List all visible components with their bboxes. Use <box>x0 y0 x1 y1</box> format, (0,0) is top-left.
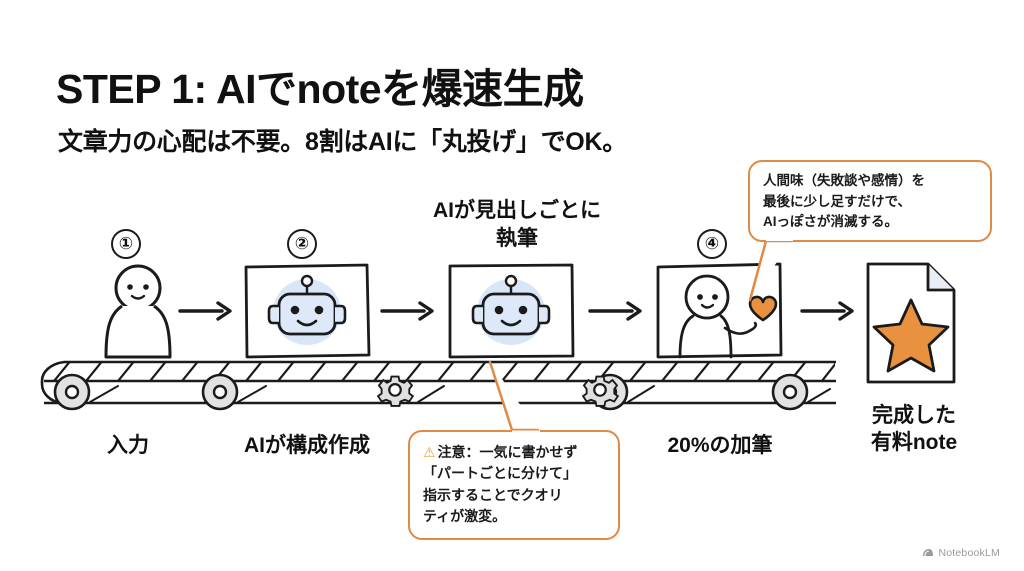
slide-canvas: STEP 1: AIでnoteを爆速生成 文章力の心配は不要。8割はAIに「丸投… <box>0 0 1024 571</box>
callout-warning-line1-text: 注意：一気に書かせず <box>438 444 578 460</box>
arrow-step3-to-step4 <box>588 300 646 322</box>
warning-icon: ⚠ <box>423 444 436 460</box>
stage3-label: AIが見出しごとに 執筆 <box>404 197 630 252</box>
step3-robot-panel <box>447 262 575 360</box>
step2-robot-panel <box>243 262 371 360</box>
belt-roller <box>55 375 89 409</box>
page-title: STEP 1: AIでnoteを爆速生成 <box>56 55 584 115</box>
arrow-right-icon <box>588 300 646 322</box>
arrow-right-icon <box>178 300 236 322</box>
callout-human-touch-line2: 最後に少し足すだけで、 <box>763 192 978 213</box>
caption-step1: 入力 <box>78 432 178 459</box>
callout-warning-line4: ティが激変。 <box>423 506 608 527</box>
notebooklm-logo-icon <box>922 547 934 559</box>
step1-person-figure <box>98 262 178 357</box>
callout-warning: ⚠注意：一気に書かせず 「パートごとに分けて」 指示することでクオリ ティが激変… <box>408 430 620 540</box>
stage3-label-line2: 執筆 <box>404 225 630 253</box>
belt-roller <box>203 375 237 409</box>
stage3-label-line1: AIが見出しごとに <box>404 197 630 225</box>
caption-step4: 20%の加筆 <box>645 432 795 459</box>
document-with-star-icon <box>862 258 966 388</box>
output-document <box>862 258 966 388</box>
watermark-label: NotebookLM <box>938 547 1000 559</box>
caption-step2: AIが構成作成 <box>222 432 392 459</box>
callout-warning-line2: 「パートごとに分けて」 <box>423 463 608 484</box>
person-icon <box>98 262 178 357</box>
caption-output: 完成した 有料note <box>838 402 990 457</box>
callout-warning-tail <box>486 360 542 436</box>
step-badge-2: ② <box>287 229 317 259</box>
page-subtitle: 文章力の心配は不要。8割はAIに「丸投げ」でOK。 <box>58 122 627 158</box>
arrow-right-icon <box>380 300 438 322</box>
caption-output-line2: 有料note <box>838 429 990 456</box>
callout-human-touch-line1: 人間味（失敗談や感情）を <box>763 171 978 192</box>
step-badge-4: ④ <box>697 229 727 259</box>
gear-icon <box>378 377 413 406</box>
belt-roller <box>773 375 807 409</box>
callout-human-touch-tail <box>748 238 818 306</box>
gear-icon <box>583 377 618 406</box>
callout-human-touch: 人間味（失敗談や感情）を 最後に少し足すだけで、 AIっぽさが消滅する。 <box>748 160 992 242</box>
step-badge-1: ① <box>111 229 141 259</box>
caption-output-line1: 完成した <box>838 402 990 429</box>
callout-warning-line1: ⚠注意：一気に書かせず <box>423 442 608 463</box>
callout-warning-line3: 指示することでクオリ <box>423 485 608 506</box>
arrow-step2-to-step3 <box>380 300 438 322</box>
arrow-step1-to-step2 <box>178 300 236 322</box>
callout-human-touch-line3: AIっぽさが消滅する。 <box>763 212 978 233</box>
watermark: NotebookLM <box>922 547 1000 559</box>
